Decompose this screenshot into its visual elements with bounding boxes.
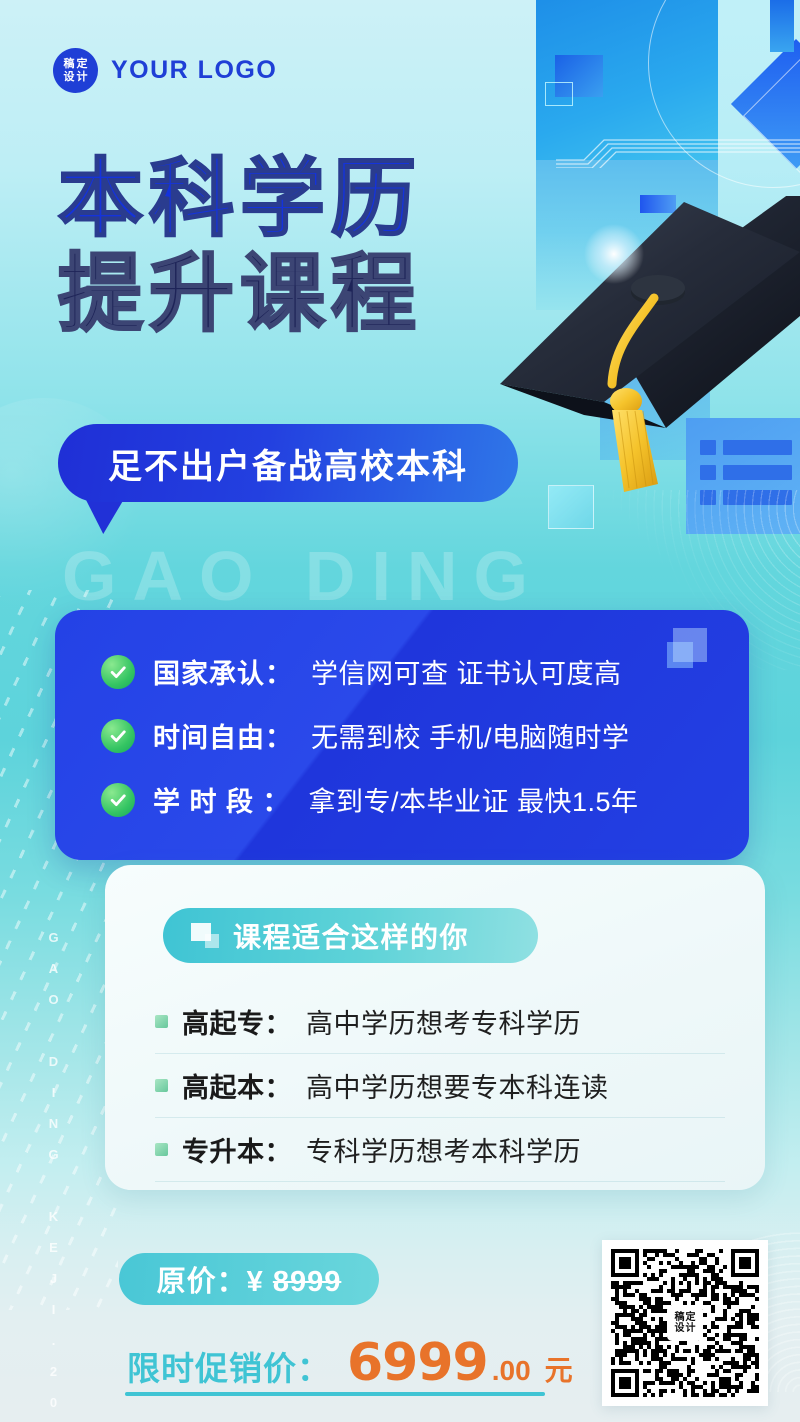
bullet-square-icon [155, 1079, 168, 1092]
check-icon [101, 655, 135, 689]
logo-char-0: 稿 [64, 58, 75, 70]
subtitle-text: 足不出户备战高校本科 [108, 439, 468, 488]
subtitle-banner: 足不出户备战高校本科 [58, 424, 518, 502]
list-item-value: 高中学历想要专本科连读 [306, 1066, 609, 1105]
graduation-cap-icon [486, 196, 800, 522]
list-item: 专升本： 专科学历想考本科学历 [155, 1118, 725, 1182]
side-vertical-text: GAO DING KEJI.2022 [46, 930, 61, 1422]
list-item-value: 高中学历想考专科学历 [306, 1002, 581, 1041]
original-price-label: 原价：¥ [157, 1266, 273, 1298]
feature-value: 无需到校 手机/电脑随时学 [311, 716, 630, 755]
feature-label: 学 时 段 ： [153, 780, 291, 819]
feature-value: 拿到专/本毕业证 最快1.5年 [309, 780, 639, 819]
bg-square-d [770, 0, 794, 52]
logo-char-2: 设 [64, 71, 75, 83]
qr-char-0: 稿 [675, 1312, 685, 1323]
logo-mark-icon: 稿 定 设 计 [53, 48, 98, 93]
qr-char-1: 定 [686, 1312, 696, 1323]
check-icon [101, 719, 135, 753]
promo-price-label: 限时促销价： [127, 1342, 331, 1390]
watermark-text: GAO DING [62, 536, 682, 616]
currency-unit: 元 [545, 1349, 573, 1389]
original-price-value: 8999 [273, 1266, 342, 1298]
headline-line-1: 本科学历 [58, 152, 422, 247]
logo-char-1: 定 [77, 58, 88, 70]
promo-price-cents: .00 [492, 1355, 531, 1387]
qr-char-2: 设 [675, 1323, 685, 1334]
feature-label: 国家承认： [153, 652, 293, 691]
brand-logo[interactable]: 稿 定 设 计 YOUR LOGO [53, 48, 277, 93]
suitable-list: 高起专： 高中学历想考专科学历 高起本： 高中学历想要专本科连读 专升本： 专科… [155, 990, 725, 1182]
bg-circuit-lines-icon [556, 118, 800, 168]
squares-icon [191, 923, 219, 949]
suitable-title: 课程适合这样的你 [233, 916, 469, 956]
headline-line-2: 提升课程 [58, 247, 422, 342]
suitable-title-pill: 课程适合这样的你 [163, 908, 538, 963]
price-underline [125, 1392, 545, 1396]
bg-square-b [545, 82, 573, 106]
qr-center-logo: 稿 定 设 计 [667, 1305, 703, 1341]
logo-text: YOUR LOGO [111, 56, 277, 85]
list-item-key: 专升本： [182, 1130, 292, 1169]
page-title: 本科学历 提升课程 [58, 152, 422, 342]
list-item-value: 专科学历想考本科学历 [306, 1130, 581, 1169]
list-item-key: 高起专： [182, 1002, 292, 1041]
features-card: 国家承认： 学信网可查 证书认可度高 时间自由： 无需到校 手机/电脑随时学 学… [55, 610, 749, 860]
feature-row: 时间自由： 无需到校 手机/电脑随时学 [101, 716, 749, 755]
feature-value: 学信网可查 证书认可度高 [311, 652, 622, 691]
feature-row: 国家承认： 学信网可查 证书认可度高 [101, 652, 749, 691]
qr-char-3: 计 [686, 1323, 696, 1334]
promo-price-value: 6999 [347, 1333, 488, 1393]
list-item: 高起专： 高中学历想考专科学历 [155, 990, 725, 1054]
list-item: 高起本： 高中学历想要专本科连读 [155, 1054, 725, 1118]
qr-code[interactable]: 稿 定 设 计 [602, 1240, 768, 1406]
list-item-key: 高起本： [182, 1066, 292, 1105]
logo-char-3: 计 [77, 71, 88, 83]
promo-price: 限时促销价： 6999 .00 元 [127, 1333, 573, 1393]
feature-row: 学 时 段 ： 拿到专/本毕业证 最快1.5年 [101, 780, 749, 819]
original-price-pill: 原价：¥ 8999 [119, 1253, 379, 1305]
poster-canvas: GAO DING GAO DING KEJI.2022 稿 定 设 计 YOUR… [0, 0, 800, 1422]
bullet-square-icon [155, 1015, 168, 1028]
feature-label: 时间自由： [153, 716, 293, 755]
check-icon [101, 783, 135, 817]
bullet-square-icon [155, 1143, 168, 1156]
